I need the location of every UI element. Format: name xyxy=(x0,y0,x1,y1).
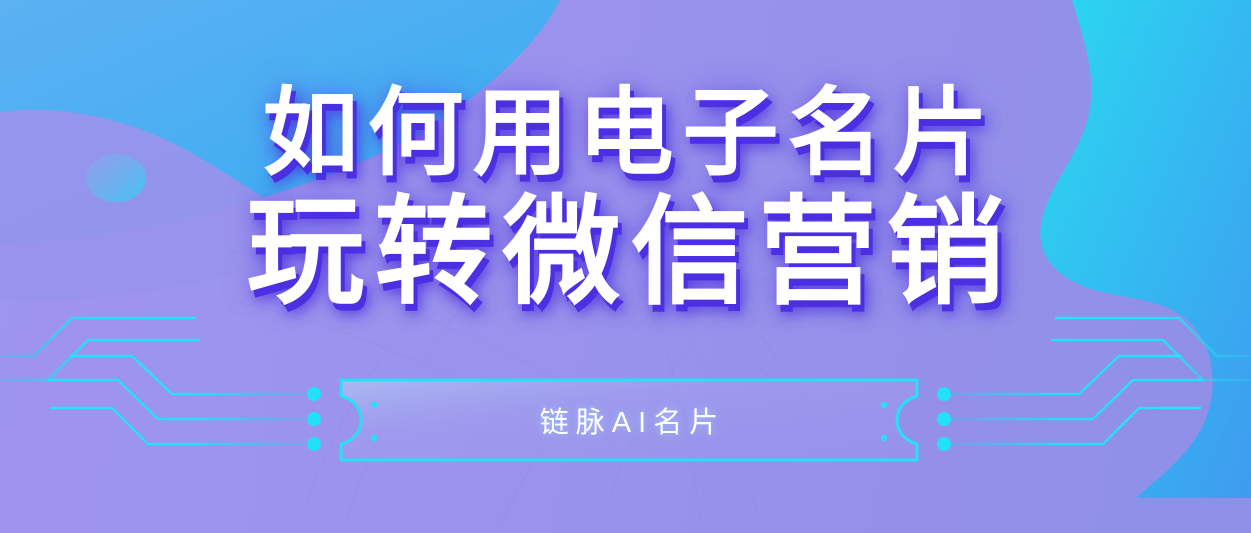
circuit-traces-left xyxy=(0,318,321,451)
title-line-2: 玩转微信营销 xyxy=(0,194,1251,312)
poster-banner: 如何用电子名片 玩转微信营销 链脉AI名片 xyxy=(0,0,1251,533)
subtitle-plaque: 链脉AI名片 xyxy=(339,378,919,462)
title-line-1: 如何用电子名片 xyxy=(0,86,1251,182)
poster-title: 如何用电子名片 玩转微信营销 xyxy=(0,86,1251,312)
subtitle-text: 链脉AI名片 xyxy=(339,378,919,462)
